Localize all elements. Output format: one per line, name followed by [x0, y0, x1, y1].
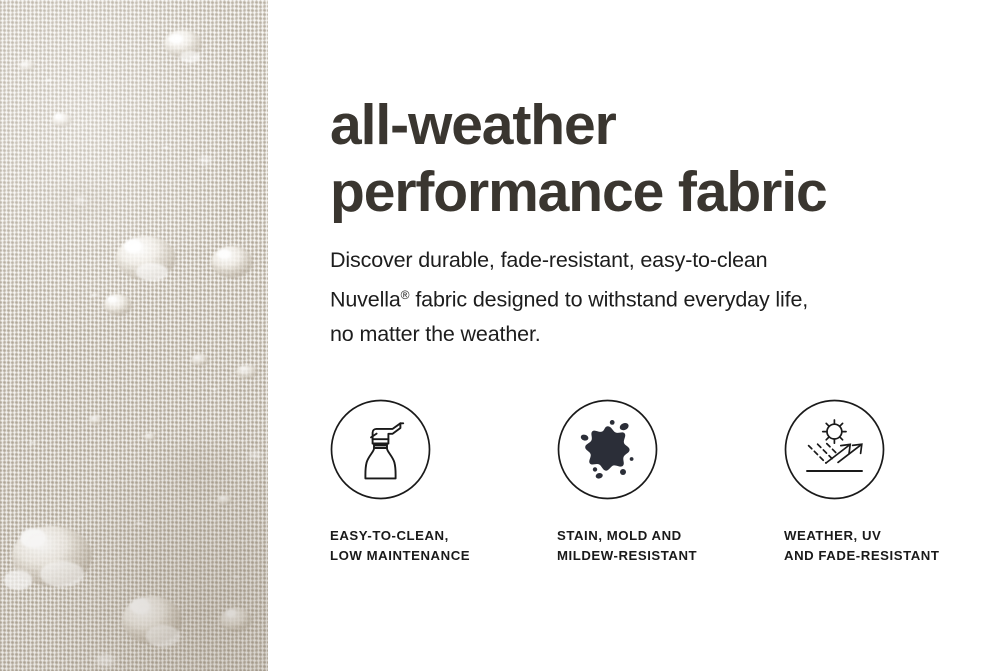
feature-label: WEATHER, UV AND FADE-RESISTANT: [784, 500, 1004, 565]
banner-content: all-weather performance fabric Discover …: [268, 0, 1005, 671]
fabric-photo: [0, 0, 268, 671]
feature-item-weather-resistant: WEATHER, UV AND FADE-RESISTANT: [784, 399, 1004, 565]
spray-bottle-icon: [330, 399, 431, 500]
feature-label: EASY-TO-CLEAN, LOW MAINTENANCE: [330, 500, 557, 565]
registered-trademark-symbol: ®: [401, 288, 410, 302]
sun-reflect-icon: [784, 399, 885, 500]
fabric-slub-highlights: [0, 0, 268, 671]
banner-description: Discover durable, fade-resistant, easy-t…: [330, 243, 950, 352]
feature-item-stain-resistant: STAIN, MOLD AND MILDEW-RESISTANT: [557, 399, 784, 565]
feature-list: EASY-TO-CLEAN, LOW MAINTENANCE: [330, 399, 1005, 565]
page-title: all-weather performance fabric: [330, 92, 970, 226]
stain-splatter-icon: [557, 399, 658, 500]
feature-label: STAIN, MOLD AND MILDEW-RESISTANT: [557, 500, 784, 565]
all-weather-fabric-banner: all-weather performance fabric Discover …: [0, 0, 1005, 671]
feature-item-easy-to-clean: EASY-TO-CLEAN, LOW MAINTENANCE: [330, 399, 557, 565]
